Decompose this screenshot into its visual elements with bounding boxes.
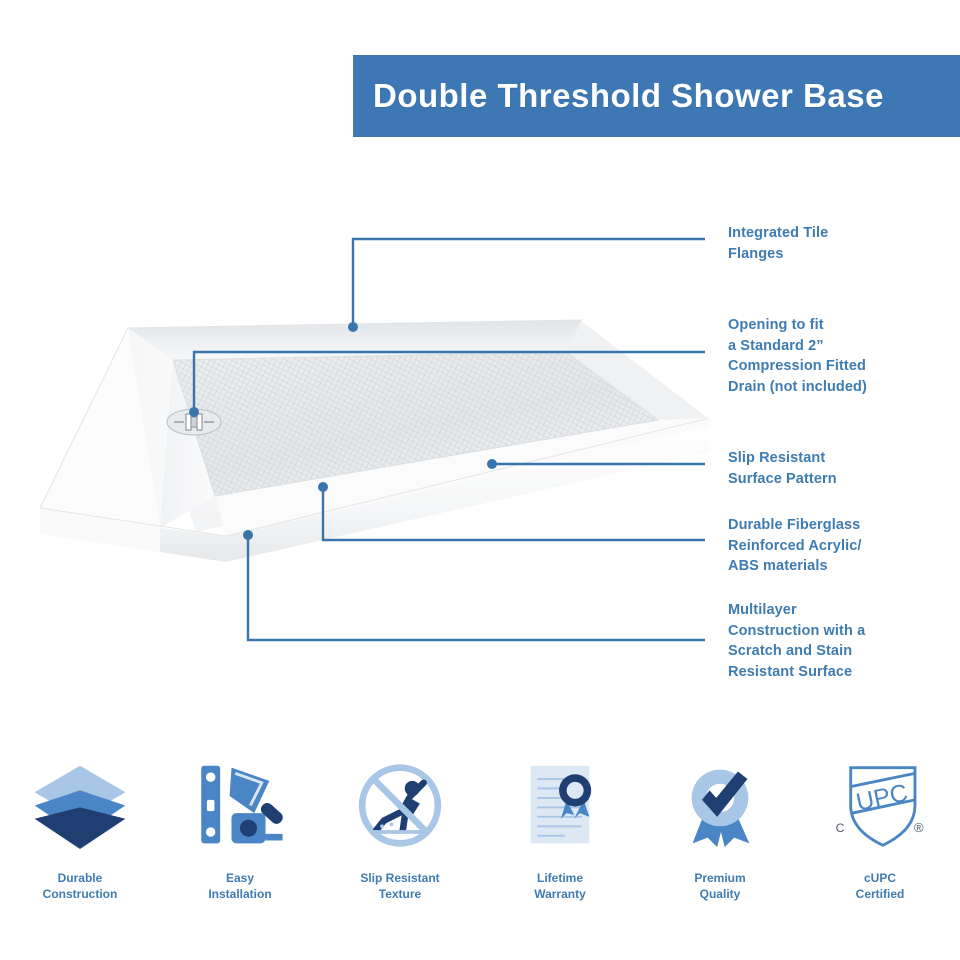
callout-line: Surface Pattern — [728, 469, 960, 490]
feature-label-line: Texture — [360, 886, 439, 902]
page-title: Double Threshold Shower Base — [353, 77, 884, 115]
upc-shield-prefix: C — [836, 820, 845, 834]
callout-line: Scratch and Stain — [728, 641, 960, 662]
layered-diamonds-icon — [15, 750, 145, 860]
feature-label: Slip Resistant Texture — [360, 870, 439, 902]
callout-line: Durable Fiberglass — [728, 515, 960, 536]
callout-line: a Standard 2” — [728, 336, 960, 357]
feature-easy-installation: Easy Installation — [165, 750, 315, 902]
callout-line: Opening to fit — [728, 315, 960, 336]
infographic-canvas: Double Threshold Shower Base — [0, 0, 960, 960]
feature-label-line: Construction — [43, 886, 118, 902]
callout-line: Drain (not included) — [728, 377, 960, 398]
feature-label-line: Durable — [43, 870, 118, 886]
callout-integrated-tile-flanges: Integrated Tile Flanges — [728, 223, 960, 264]
feature-label: cUPC Certified — [856, 870, 905, 902]
drain-opening-icon — [167, 409, 221, 435]
certificate-rosette-icon — [495, 750, 625, 860]
feature-durable-construction: Durable Construction — [5, 750, 155, 902]
callout-line: Resistant Surface — [728, 662, 960, 683]
feature-label: Lifetime Warranty — [534, 870, 586, 902]
upc-shield-icon: UPC C ® — [815, 750, 945, 860]
feature-badges-row: Durable Construction — [0, 750, 960, 930]
callout-line: ABS materials — [728, 556, 960, 577]
feature-label-line: Slip Resistant — [360, 870, 439, 886]
feature-label: Premium Quality — [694, 870, 745, 902]
feature-label-line: cUPC — [856, 870, 905, 886]
callout-slip-resistant-surface: Slip Resistant Surface Pattern — [728, 448, 960, 489]
feature-label-line: Installation — [208, 886, 271, 902]
feature-label: Durable Construction — [43, 870, 118, 902]
callout-line: Construction with a — [728, 621, 960, 642]
title-banner: Double Threshold Shower Base — [353, 55, 960, 137]
feature-label-line: Quality — [694, 886, 745, 902]
callout-line: Compression Fitted — [728, 356, 960, 377]
feature-slip-resistant-texture: Slip Resistant Texture — [325, 750, 475, 902]
no-slip-prohibition-icon — [335, 750, 465, 860]
shower-base-illustration — [10, 300, 710, 570]
feature-label: Easy Installation — [208, 870, 271, 902]
callout-line: Slip Resistant — [728, 448, 960, 469]
callout-drain-opening: Opening to fit a Standard 2” Compression… — [728, 315, 960, 397]
feature-label-line: Warranty — [534, 886, 586, 902]
feature-label-line: Certified — [856, 886, 905, 902]
callout-line: Integrated Tile — [728, 223, 960, 244]
feature-label-line: Easy — [208, 870, 271, 886]
callout-durable-fiberglass: Durable Fiberglass Reinforced Acrylic/ A… — [728, 515, 960, 577]
feature-cupc-certified: UPC C ® cUPC Certified — [805, 750, 955, 902]
callout-line: Reinforced Acrylic/ — [728, 536, 960, 557]
ribbon-checkmark-icon — [655, 750, 785, 860]
trowel-level-tape-icon — [175, 750, 305, 860]
feature-label-line: Premium — [694, 870, 745, 886]
callout-line: Multilayer — [728, 600, 960, 621]
feature-label-line: Lifetime — [534, 870, 586, 886]
callout-line: Flanges — [728, 244, 960, 265]
upc-shield-suffix: ® — [914, 819, 924, 834]
feature-lifetime-warranty: Lifetime Warranty — [485, 750, 635, 902]
feature-premium-quality: Premium Quality — [645, 750, 795, 902]
callout-multilayer-construction: Multilayer Construction with a Scratch a… — [728, 600, 960, 682]
